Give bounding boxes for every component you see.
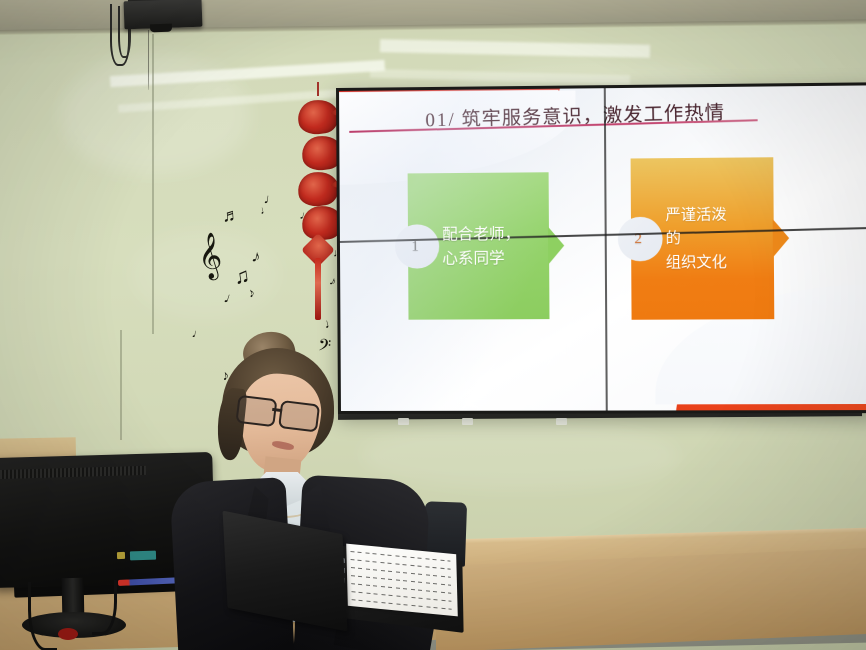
callout-line: 的 bbox=[666, 227, 764, 251]
monitor-stand-accent bbox=[58, 628, 78, 640]
ornament-cord bbox=[317, 82, 319, 96]
callout-line: 心系同学 bbox=[442, 246, 539, 271]
music-note-icon: ♩ bbox=[323, 315, 339, 331]
hanging-cable bbox=[148, 30, 149, 90]
handwritten-notes-page bbox=[346, 544, 458, 617]
slide-callout-1: 1 配合老师， 心系同学 bbox=[408, 172, 550, 319]
desk-surface-right bbox=[436, 548, 866, 650]
callout-index-2: 2 bbox=[628, 228, 648, 252]
glasses-lens-right bbox=[278, 400, 320, 433]
ring-binder[interactable] bbox=[225, 535, 455, 625]
glasses-lens-left bbox=[235, 395, 277, 428]
callout-line: 组织文化 bbox=[666, 250, 764, 274]
ornament-fish-icon bbox=[296, 97, 340, 136]
treble-clef-icon: 𝄞 bbox=[196, 235, 224, 277]
wall-panel-seam bbox=[152, 34, 154, 334]
ornament-tassel bbox=[315, 258, 321, 320]
monitor-label-sticker bbox=[117, 552, 125, 559]
music-note-icon: ♬ bbox=[221, 205, 240, 224]
monitor-label-sticker bbox=[130, 551, 156, 561]
projector-lens-icon bbox=[150, 24, 172, 33]
whiteboard-clip bbox=[556, 418, 567, 425]
video-wall-seam-vertical bbox=[604, 88, 608, 410]
photo-scene: 𝄞 ♪ ♫ ♩ ♪ ♩ ♩ ♬ ♬ ♩ ♪ ♩ ♩ ♪ ♩ 𝄢 ♥ ♥ ♥ ♥ … bbox=[0, 0, 866, 650]
callout-arrow bbox=[773, 219, 790, 258]
wall-panel-seam bbox=[120, 330, 122, 440]
ornament-fish-icon bbox=[296, 169, 340, 208]
callout-line: 严谨活泼 bbox=[665, 203, 763, 227]
slide-callout-2: 2 严谨活泼 的 组织文化 bbox=[631, 157, 775, 320]
callout-line: 配合老师， bbox=[442, 222, 539, 247]
callout-arrow bbox=[548, 226, 564, 264]
